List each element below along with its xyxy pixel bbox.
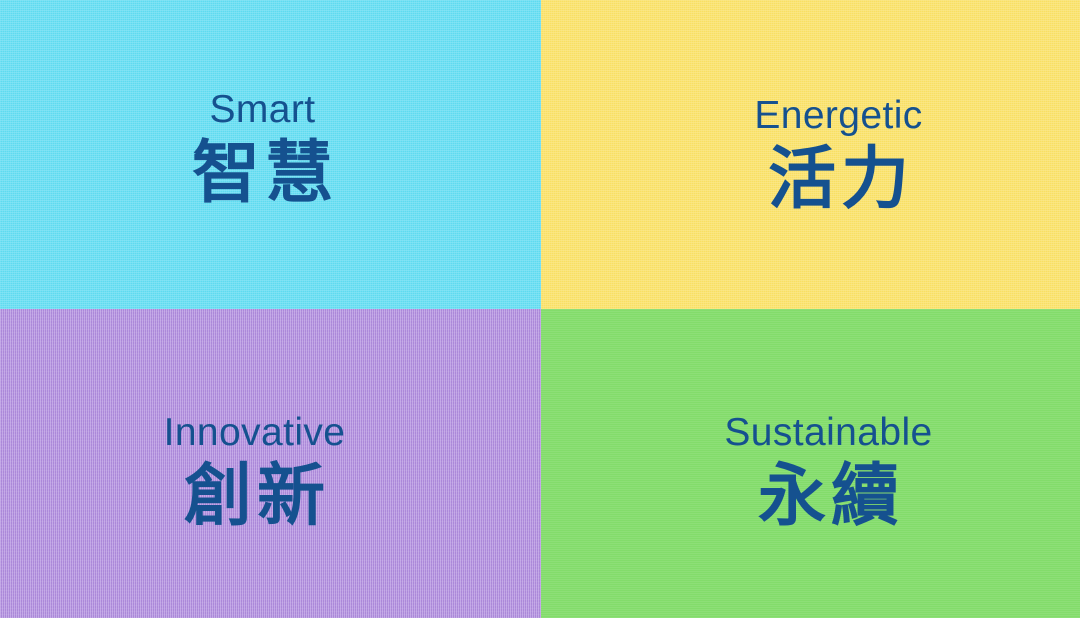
quadrant-sustainable[interactable]: Sustainable 永續 xyxy=(541,309,1080,618)
quadrant-innovative[interactable]: Innovative 創新 xyxy=(0,309,541,618)
values-quadrant-board: Smart 智慧 Energetic 活力 Innovative 創新 Sust… xyxy=(0,0,1080,618)
value-label-en-innovative: Innovative xyxy=(164,413,346,454)
quadrant-energetic[interactable]: Energetic 活力 xyxy=(541,0,1080,309)
value-text-stack-smart: Smart 智慧 xyxy=(187,90,338,210)
value-label-zh-innovative: 創新 xyxy=(164,460,346,533)
value-label-en-smart: Smart xyxy=(187,90,338,131)
value-label-zh-energetic: 活力 xyxy=(754,143,922,216)
value-label-en-energetic: Energetic xyxy=(754,96,922,137)
value-label-zh-smart: 智慧 xyxy=(187,137,338,210)
value-label-zh-sustainable: 永續 xyxy=(724,460,932,533)
value-text-stack-sustainable: Sustainable 永續 xyxy=(724,413,932,533)
value-text-stack-innovative: Innovative 創新 xyxy=(164,413,346,533)
quadrant-smart[interactable]: Smart 智慧 xyxy=(0,0,541,309)
value-label-en-sustainable: Sustainable xyxy=(724,413,932,454)
value-text-stack-energetic: Energetic 活力 xyxy=(754,96,922,216)
